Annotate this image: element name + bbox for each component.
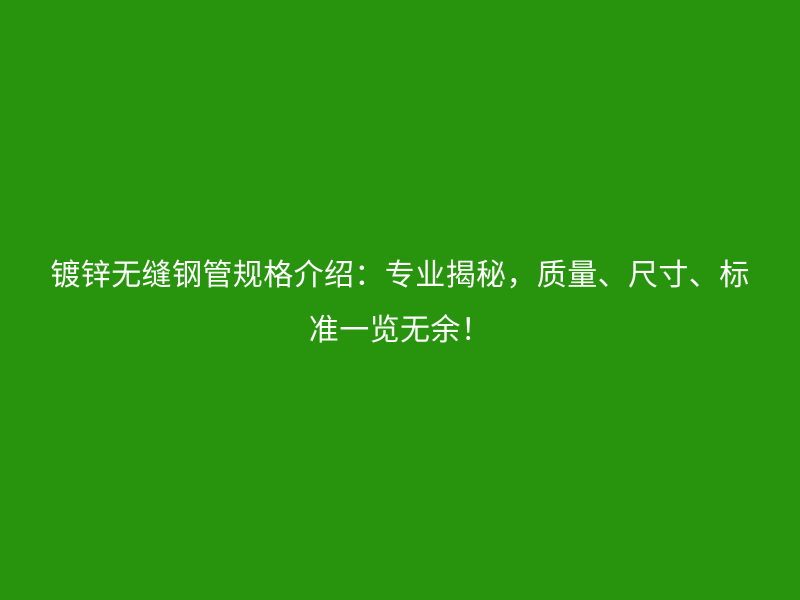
page-title: 镀锌无缝钢管规格介绍：专业揭秘，质量、尺寸、标准一览无余！ [0, 248, 800, 358]
banner-canvas: 镀锌无缝钢管规格介绍：专业揭秘，质量、尺寸、标准一览无余！ [0, 0, 800, 600]
page-title-text: 镀锌无缝钢管规格介绍：专业揭秘，质量、尺寸、标准一览无余！ [38, 248, 762, 358]
